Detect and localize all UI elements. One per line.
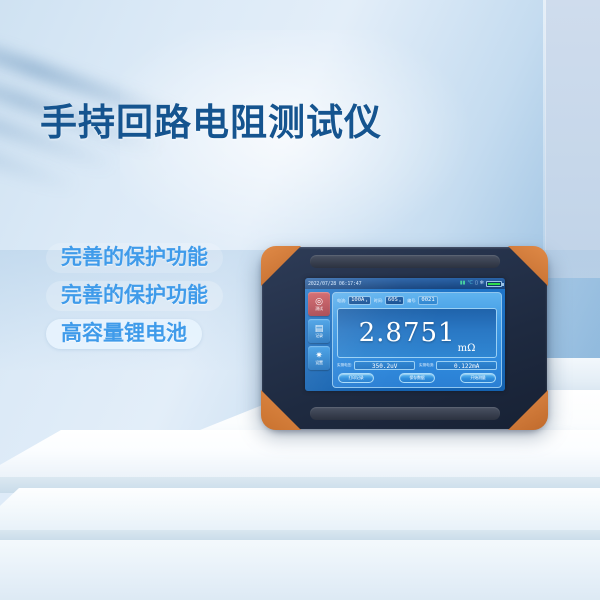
device-body: 2022/07/28 06:17:47 ▮▮ ℃ ▯ ✻ ◎ 测试 [262,247,547,429]
parameter-time: 时间: 60S ⇕ [374,296,404,305]
time-value: 60S [388,296,398,305]
sub-reading-label: 实测电流: [419,363,434,368]
time-select[interactable]: 60S ⇕ [385,296,404,305]
background-right-edge [543,0,546,278]
signal-icon: ▮▮ [460,281,466,286]
corner-bumper-bottom-right [508,390,548,430]
parameter-row: 电流: 100A ⇕ 时间: 60S ⇕ [337,296,497,305]
status-bar: 2022/07/28 06:17:47 ▮▮ ℃ ▯ ✻ [305,278,505,289]
background-right-panel [545,0,600,278]
gear-icon: ✷ [315,351,323,360]
stepper-icon[interactable]: ⇕ [399,299,401,302]
sub-reading-current: 实测电流: 0.122mA [419,361,497,370]
parameter-label: 编号: [407,298,416,304]
parameter-label: 时间: [374,298,383,304]
start-measure-button[interactable]: 开始测量 [460,373,496,383]
parameter-number: 编号: 0021 [407,296,437,305]
corner-bumper-bottom-left [261,390,301,430]
sub-reading-row: 实测电压: 350.2uV 实测电流: 0.122mA [337,361,497,370]
screen-sidebar: ◎ 测试 ▤ 记录 ✷ 设置 [305,289,331,391]
resistance-value: 2.8751 [359,320,456,346]
device-screen[interactable]: 2022/07/28 06:17:47 ▮▮ ℃ ▯ ✻ ◎ 测试 [305,278,505,391]
sub-reading-voltage: 实测电压: 350.2uV [337,361,415,370]
sub-reading-label: 实测电压: [337,363,352,368]
corner-bumper-top-left [261,246,301,286]
feature-badge-list: 完善的保护功能 完善的保护功能 高容量锂电池 [46,243,223,357]
rubber-strip-bottom [310,407,500,420]
rubber-strip-top [310,255,500,268]
sidebar-item-setting[interactable]: ✷ 设置 [308,346,330,370]
sidebar-item-label: 测试 [315,307,323,311]
status-icon-group: ▮▮ ℃ ▯ ✻ [460,281,502,287]
screen-body: ◎ 测试 ▤ 记录 ✷ 设置 [305,289,505,391]
save-data-button[interactable]: 保存数据 [399,373,435,383]
feature-badge: 完善的保护功能 [46,281,223,311]
record-icon: ▤ [315,324,324,333]
parameter-current: 电流: 100A ⇕ [337,296,371,305]
sidebar-item-label: 记录 [315,334,323,338]
corner-bumper-top-right [508,246,548,286]
action-button-row: 打印记录 保存数据 开始测量 [337,373,497,384]
page-title: 手持回路电阻测试仪 [40,92,382,146]
lock-icon: ▯ [475,281,478,286]
sidebar-item-record[interactable]: ▤ 记录 [308,319,330,343]
number-value: 0021 [421,296,434,305]
bluetooth-icon: ✻ [480,281,484,286]
current-value-readout: 0.122mA [436,361,497,370]
sidebar-item-test[interactable]: ◎ 测试 [308,292,330,316]
feature-badge: 高容量锂电池 [46,319,202,349]
voltage-value: 350.2uV [354,361,415,370]
stepper-icon[interactable]: ⇕ [365,299,367,302]
battery-icon [486,281,502,287]
primary-reading-box: 2.8751 mΩ [337,308,497,358]
resistance-unit: mΩ [458,343,476,357]
print-record-button[interactable]: 打印记录 [338,373,374,383]
measurement-panel: 电流: 100A ⇕ 时间: 60S ⇕ [332,292,502,388]
current-select[interactable]: 100A ⇕ [348,296,371,305]
test-icon: ◎ [315,297,323,306]
feature-badge: 完善的保护功能 [46,243,223,273]
sidebar-item-label: 设置 [315,361,323,365]
number-field[interactable]: 0021 [418,296,437,305]
parameter-label: 电流: [337,298,346,304]
temperature-icon: ℃ [467,281,473,286]
current-value: 100A [351,296,364,305]
platform-step-3 [0,540,600,600]
handheld-tester-device: 2022/07/28 06:17:47 ▮▮ ℃ ▯ ✻ ◎ 测试 [262,247,547,429]
product-banner-stage: 手持回路电阻测试仪 完善的保护功能 完善的保护功能 高容量锂电池 2022/07… [0,0,600,600]
status-datetime: 2022/07/28 06:17:47 [308,281,361,287]
platform-step-2 [0,488,600,534]
